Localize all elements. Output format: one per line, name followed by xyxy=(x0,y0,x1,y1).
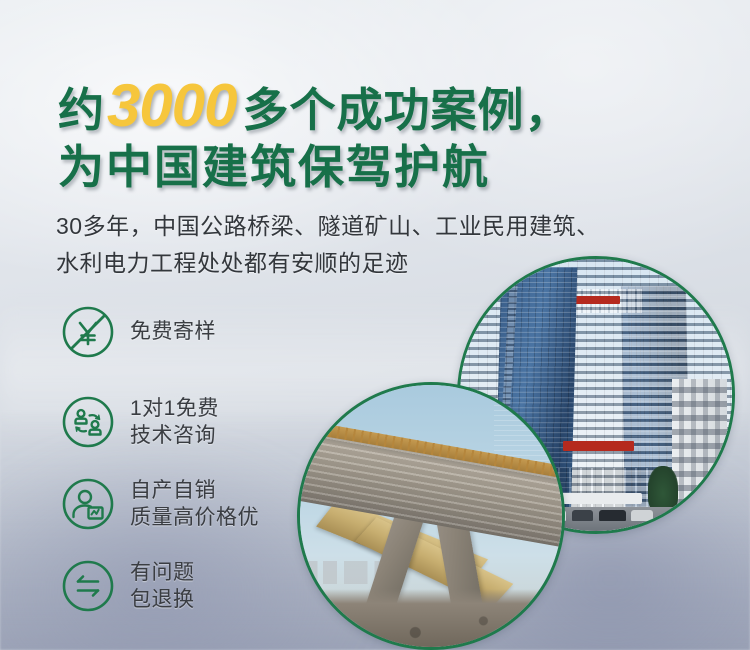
parked-car xyxy=(631,510,653,521)
feature-label: 自产自销 质量高价格优 xyxy=(130,477,259,532)
self-produce-sell-icon xyxy=(60,476,116,532)
feature-item-free-sample[interactable]: 免费寄样 xyxy=(60,296,320,368)
no-fee-yuan-icon xyxy=(60,304,116,360)
headline-number: 3000 xyxy=(105,72,242,139)
page-title: 约3000多个成功案例， 为中国建筑保驾护航 xyxy=(58,76,571,190)
building-entrance-canopy xyxy=(552,493,642,504)
feature-label: 免费寄样 xyxy=(130,318,216,345)
headline-line-1: 约3000多个成功案例， xyxy=(58,76,571,136)
headline-prefix: 约 xyxy=(58,84,105,136)
feature-item-self-produce-sell[interactable]: 自产自销 质量高价格优 xyxy=(60,468,320,540)
promo-banner: 约3000多个成功案例， 为中国建筑保驾护航 30多年，中国公路桥梁、隧道矿山、… xyxy=(0,0,750,650)
feature-label: 1对1免费 技术咨询 xyxy=(130,395,219,450)
feature-label: 有问题 包退换 xyxy=(130,559,195,614)
headline-line-2: 为中国建筑保驾护航 xyxy=(58,144,571,190)
headline-line-2-text: 为中国建筑保驾护航 xyxy=(58,141,490,193)
one-to-one-consult-icon xyxy=(60,394,116,450)
feature-item-return-exchange[interactable]: 有问题 包退换 xyxy=(60,550,320,622)
parked-car xyxy=(572,510,594,521)
return-exchange-icon xyxy=(60,558,116,614)
bridge-construction-rubble xyxy=(300,589,562,647)
building-street-tree xyxy=(648,466,678,512)
headline-suffix: 多个成功案例， xyxy=(242,84,571,136)
subtitle-text: 30多年，中国公路桥梁、隧道矿山、工业民用建筑、 水利电力工程处处都有安顺的足迹 xyxy=(56,208,600,283)
feature-item-one-to-one-consult[interactable]: 1对1免费 技术咨询 xyxy=(60,386,320,458)
bridge-viaduct-photo xyxy=(297,382,565,650)
feature-list: 免费寄样 1对1免费 技术咨询 xyxy=(60,296,320,632)
parked-car xyxy=(599,510,626,521)
building-entrance-sign xyxy=(563,441,634,451)
